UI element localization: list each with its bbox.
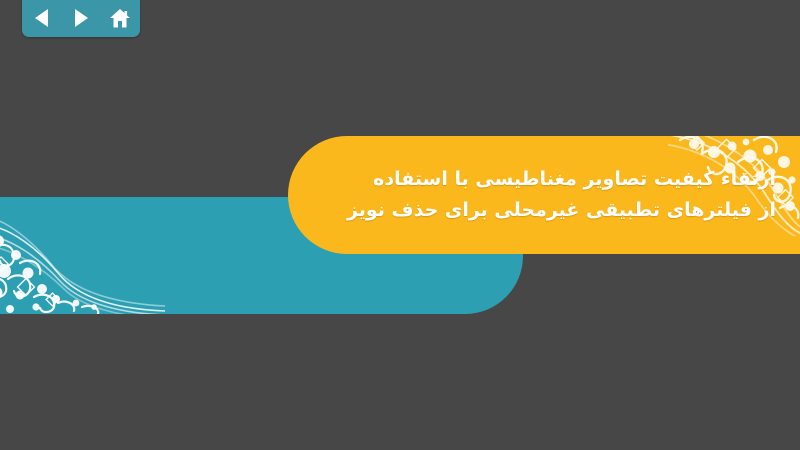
page-title: ارتقاء کیفیت تصاویر مغناطیسی با استفاده … [347, 164, 776, 226]
title-plate: ارتقاء کیفیت تصاویر مغناطیسی با استفاده … [288, 136, 800, 254]
home-icon [109, 8, 131, 29]
title-line-1: ارتقاء کیفیت تصاویر مغناطیسی با استفاده [347, 164, 776, 195]
teal-arabesque-ornament-icon [0, 197, 165, 314]
navigation-bar [22, 0, 140, 37]
forward-button[interactable] [68, 6, 94, 30]
slide-canvas: ارتقاء کیفیت تصاویر مغناطیسی با استفاده … [0, 0, 800, 450]
back-button[interactable] [29, 6, 55, 30]
title-line-2: از فیلترهای تطبیقی غیرمحلی برای حذف نویز [347, 195, 776, 226]
left-triangle-icon [33, 8, 51, 28]
home-button[interactable] [107, 6, 133, 30]
right-triangle-icon [72, 8, 90, 28]
